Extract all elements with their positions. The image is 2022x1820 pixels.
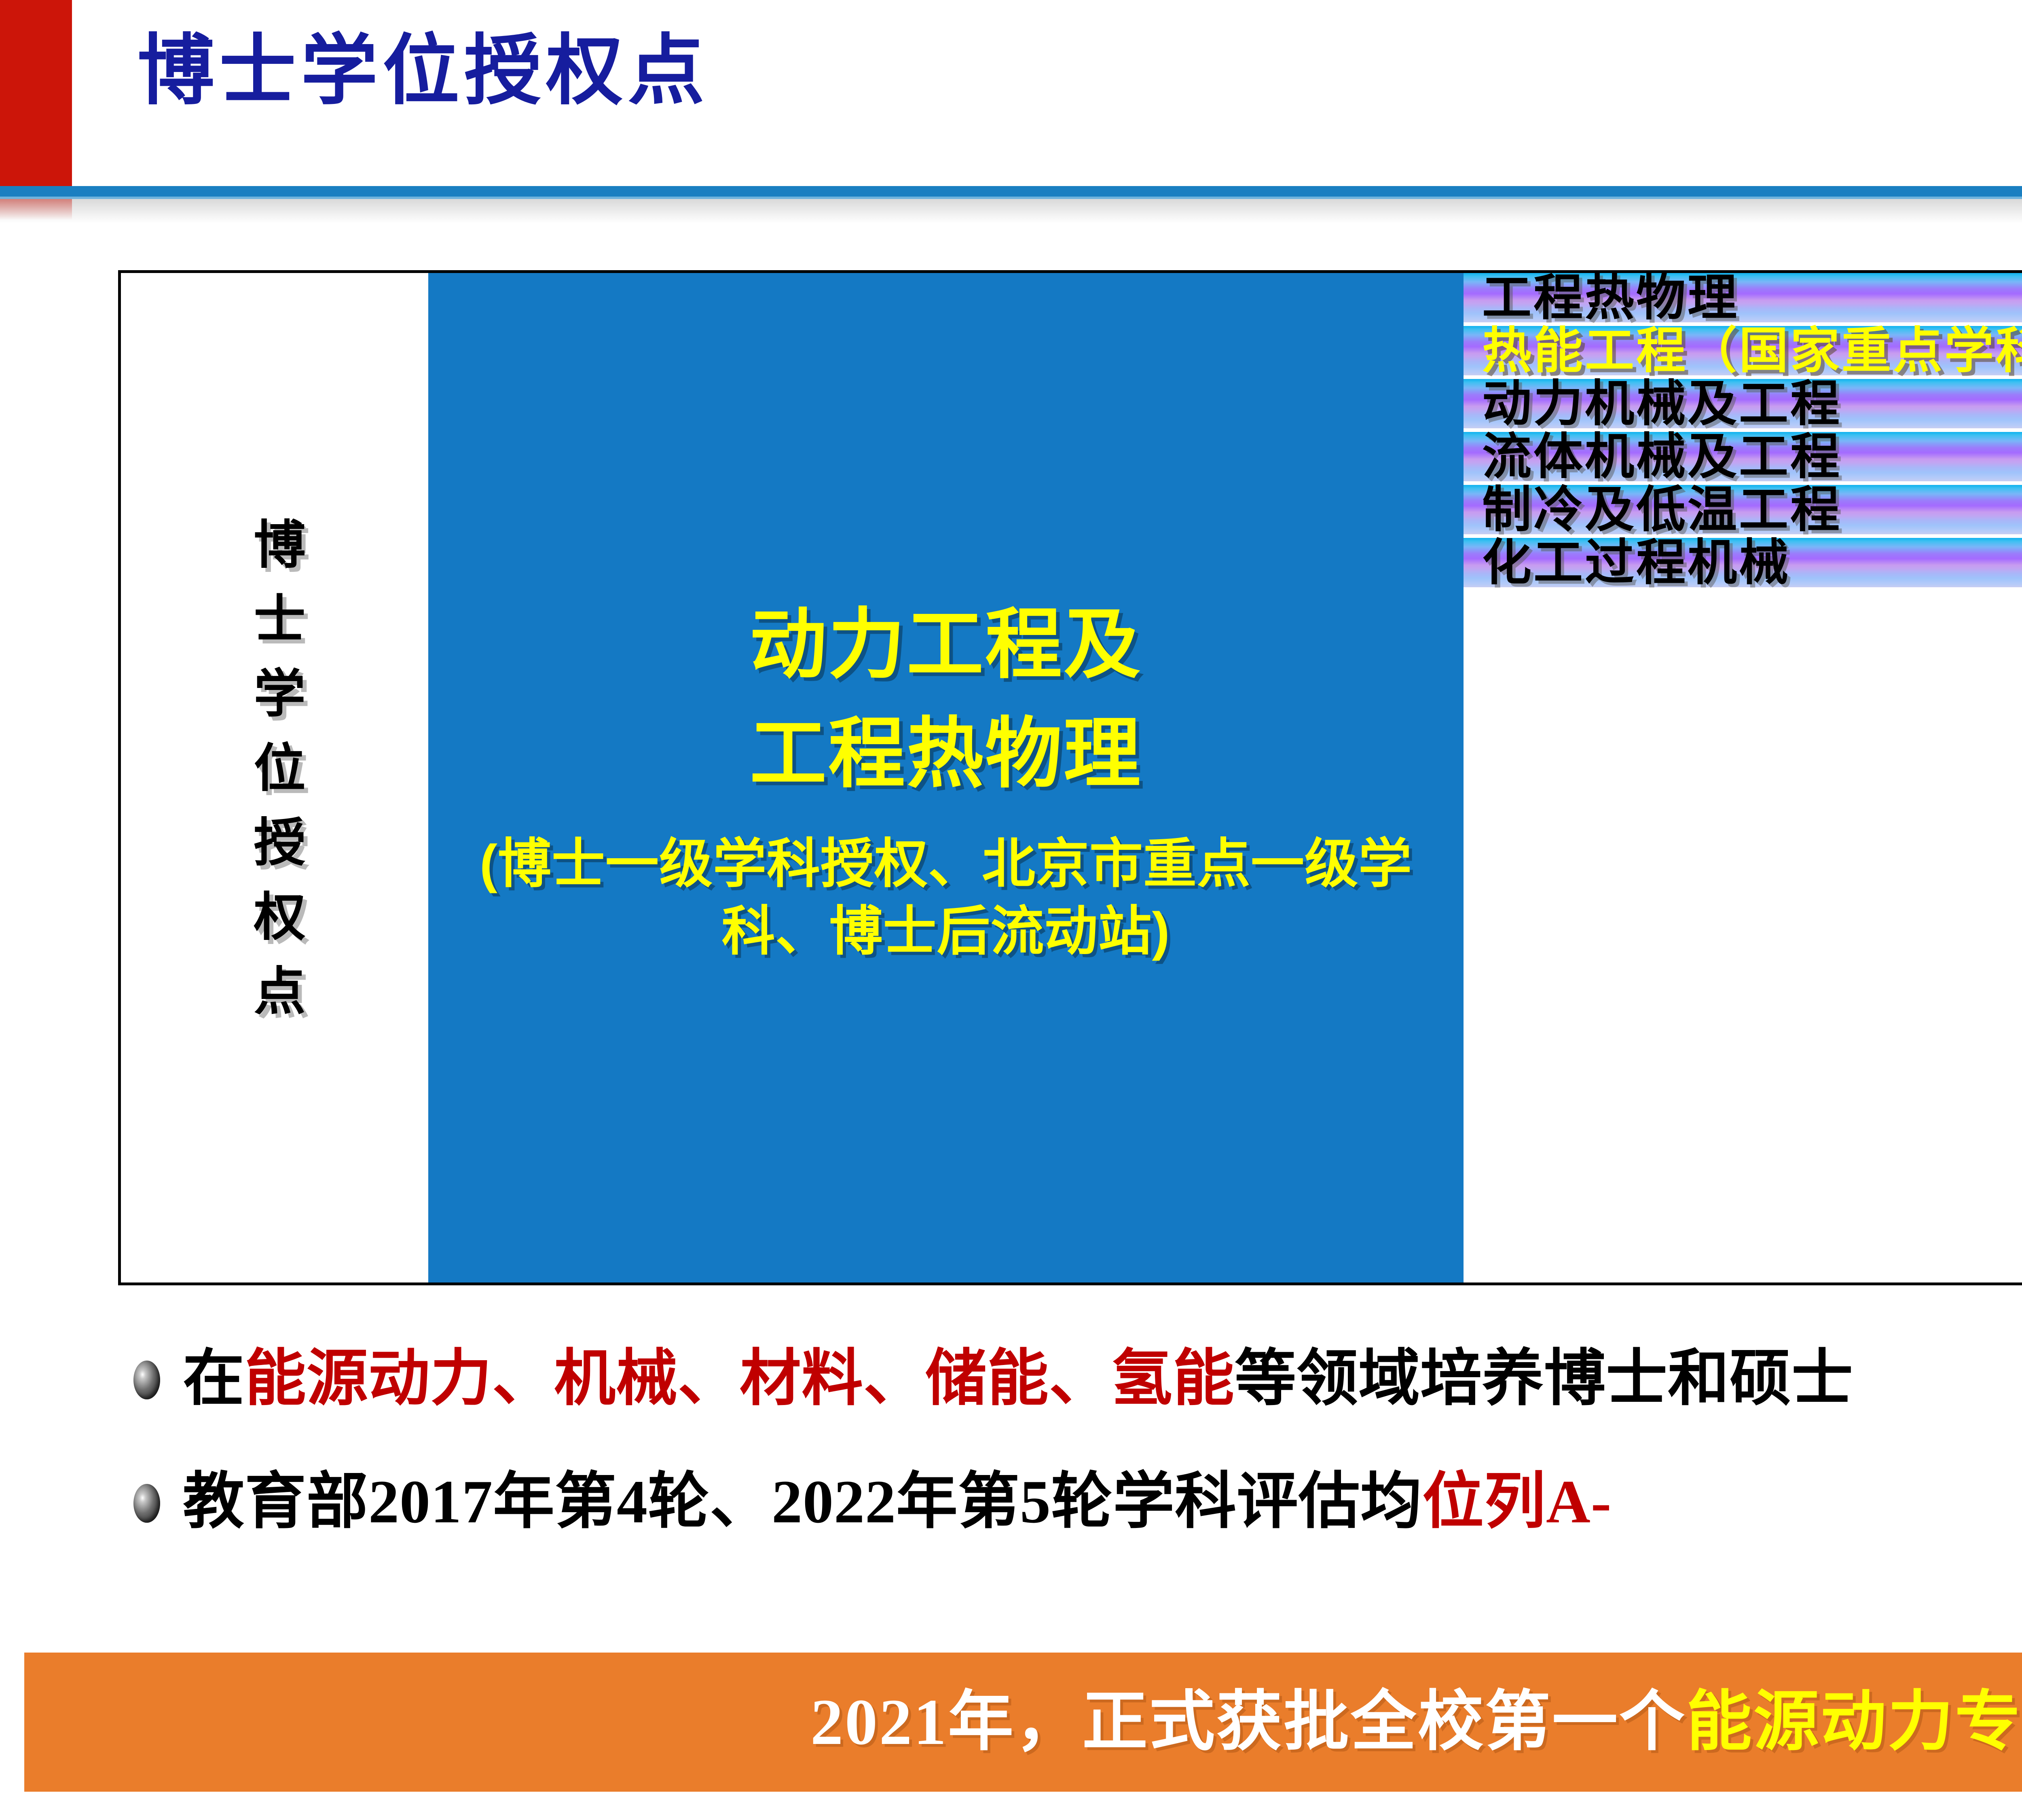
sphere-bullet-icon xyxy=(133,1484,160,1523)
sub-discipline-label: 工程热物理 xyxy=(1464,273,1739,322)
bullet-text: 教育部2017年第4轮、2022年第5轮学科评估均位列A- xyxy=(183,1471,1612,1532)
major-title-line2: 工程热物理 xyxy=(750,700,1142,809)
sub-discipline-row: 动力机械及工程 xyxy=(1464,379,2022,432)
major-qualification-note: (博士一级学科授权、北京市重点一级学科、博士后流动站) xyxy=(439,830,1453,965)
bullet-text: 在能源动力、机械、材料、储能、氢能等领域培养博士和硕士 xyxy=(183,1348,1853,1409)
table-column-category: 博士学位授权点 xyxy=(121,273,428,1282)
sub-discipline-row: 流体机械及工程 xyxy=(1464,432,2022,485)
sub-discipline-row: 热能工程（国家重点学科） xyxy=(1464,326,2022,379)
table-column-first-level-discipline: 动力工程及 工程热物理 (博士一级学科授权、北京市重点一级学科、博士后流动站) xyxy=(428,273,1464,1282)
header-reflection-gradient xyxy=(0,199,2022,223)
sub-discipline-label: 动力机械及工程 xyxy=(1464,379,1842,428)
bullet-item: 在能源动力、机械、材料、储能、氢能等领域培养博士和硕士 xyxy=(133,1316,2022,1440)
vertical-category-label: 博士学位授权点 xyxy=(249,517,300,1038)
footer-text: 2021年，正式获批全校第一个能源动力专业博士学位点 xyxy=(810,1689,2022,1755)
sub-discipline-label: 制冷及低温工程 xyxy=(1464,485,1842,534)
header-blue-rule xyxy=(0,186,2022,197)
extra-disciplines-row: 能源材料与装备（自设） 储能科学与工程（交叉） 氢能科学与工程（交叉） xyxy=(1464,591,2022,776)
sub-discipline-row: 工程热物理 xyxy=(1464,273,2022,326)
sub-discipline-label: 化工过程机械 xyxy=(1464,538,1790,587)
footer-highlight-banner: 2021年，正式获批全校第一个能源动力专业博士学位点 xyxy=(24,1653,2022,1792)
header-reflection-red xyxy=(0,199,72,220)
slide-header: 博士学位授权点 xyxy=(0,0,2022,202)
header-red-accent-bar xyxy=(0,0,72,186)
major-title-line1: 动力工程及 xyxy=(750,590,1142,700)
sub-discipline-row: 化工过程机械 xyxy=(1464,538,2022,591)
bullet-list: 在能源动力、机械、材料、储能、氢能等领域培养博士和硕士 教育部2017年第4轮、… xyxy=(133,1316,2022,1563)
sub-discipline-row: 制冷及低温工程 xyxy=(1464,485,2022,538)
page-title: 博士学位授权点 xyxy=(137,32,709,109)
sub-discipline-label: 流体机械及工程 xyxy=(1464,432,1842,481)
degree-programs-table: 博士学位授权点 动力工程及 工程热物理 (博士一级学科授权、北京市重点一级学科、… xyxy=(118,270,2022,1285)
sphere-bullet-icon xyxy=(133,1361,160,1399)
sub-discipline-label: 热能工程（国家重点学科） xyxy=(1464,326,2022,375)
table-column-sub-disciplines: 工程热物理 热能工程（国家重点学科） 动力机械及工程 流体机械及工程 制冷及低温… xyxy=(1464,273,2022,1282)
bullet-item: 教育部2017年第4轮、2022年第5轮学科评估均位列A- xyxy=(133,1440,2022,1563)
